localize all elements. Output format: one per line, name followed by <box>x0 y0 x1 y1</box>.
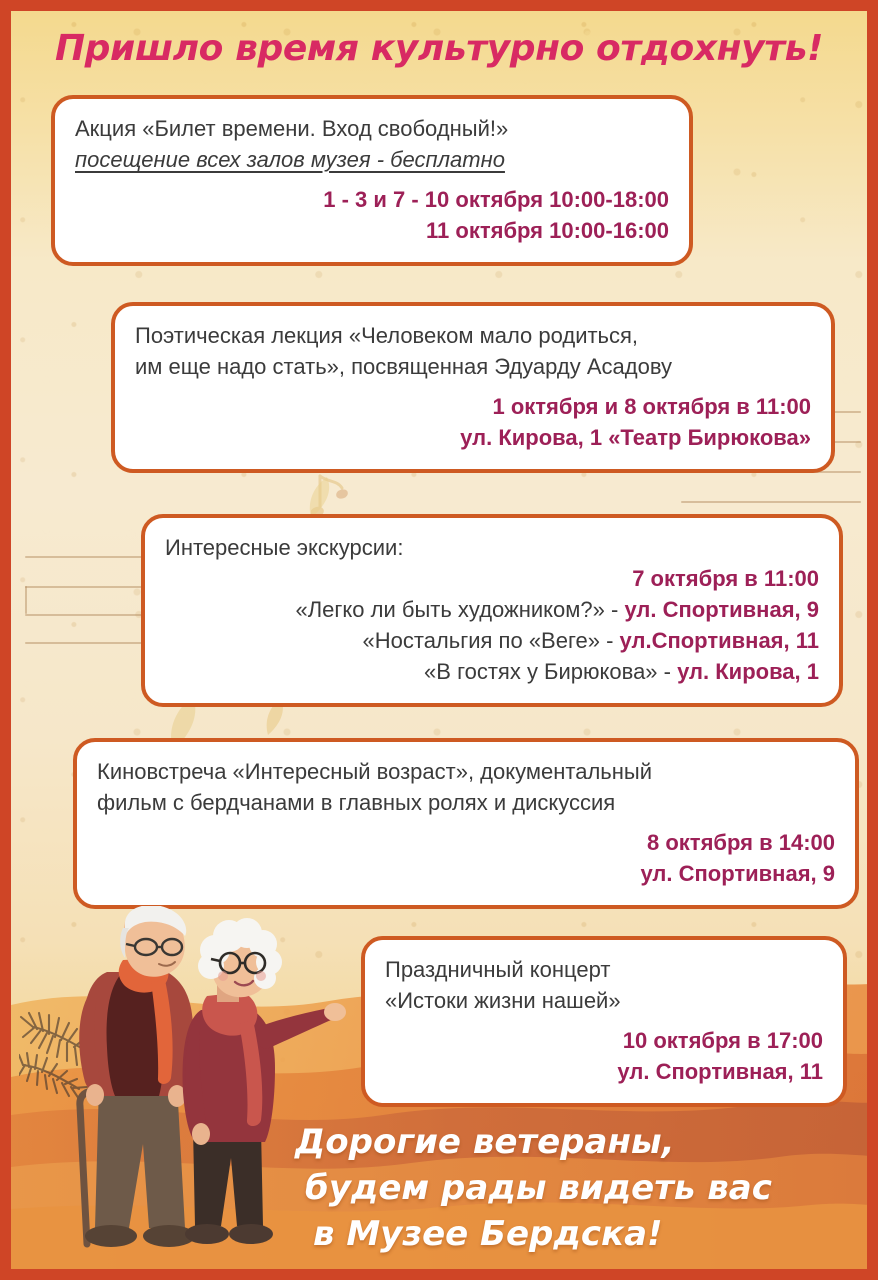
woman-hand <box>192 1123 210 1145</box>
footer-line-3: в Музее Бердска! <box>295 1211 855 1257</box>
spacer <box>97 818 835 827</box>
card-text-line: Акция «Билет времени. Вход свободный!» <box>75 113 669 144</box>
excursion-title: «Легко ли быть художником?» - <box>295 597 624 622</box>
footer-line-1: Дорогие ветераны, <box>295 1119 855 1165</box>
excursion-item: «Легко ли быть художником?» - ул. Спорти… <box>165 594 819 625</box>
card-text-line: «Истоки жизни нашей» <box>385 985 823 1016</box>
card-accent-line: 11 октября 10:00-16:00 <box>75 215 669 246</box>
woman-blush <box>256 971 266 981</box>
card-text-line: Поэтическая лекция «Человеком мало родит… <box>135 320 811 351</box>
woman-blush <box>218 971 228 981</box>
man-hand <box>86 1084 104 1106</box>
card-accent-line: ул. Спортивная, 9 <box>97 858 835 889</box>
woman-hand-pointing <box>324 1003 346 1021</box>
excursion-title: «Ностальгия по «Веге» - <box>363 628 620 653</box>
excursion-place: ул. Спортивная, 9 <box>624 597 819 622</box>
card-accent-line: ул. Кирова, 1 «Театр Бирюкова» <box>135 422 811 453</box>
excursions-date: 7 октября в 11:00 <box>165 563 819 594</box>
excursion-item: «Ностальгия по «Веге» - ул.Спортивная, 1… <box>165 625 819 656</box>
excursion-title: «В гостях у Бирюкова» - <box>424 659 677 684</box>
woman-shoe <box>185 1224 229 1244</box>
man-shoe <box>85 1225 137 1247</box>
poetry-lecture-card: Поэтическая лекция «Человеком мало родит… <box>111 302 835 473</box>
card-accent-line: 8 октября в 14:00 <box>97 827 835 858</box>
poster-title: Пришло время культурно отдохнуть! <box>11 27 867 71</box>
card-accent-line: 10 октября в 17:00 <box>385 1025 823 1056</box>
free-entry-card: Акция «Билет времени. Вход свободный!» п… <box>51 95 693 266</box>
card-text-line: им еще надо стать», посвященная Эдуарду … <box>135 351 811 382</box>
card-accent-line: 1 - 3 и 7 - 10 октября 10:00-18:00 <box>75 184 669 215</box>
excursions-card: Интересные экскурсии: 7 октября в 11:00 … <box>141 514 843 707</box>
man-trousers <box>95 1084 185 1228</box>
card-text-line: фильм с бердчанами в главных ролях и дис… <box>97 787 835 818</box>
excursion-item: «В гостях у Бирюкова» - ул. Кирова, 1 <box>165 656 819 687</box>
card-text-line: Киновстреча «Интересный возраст», докуме… <box>97 756 835 787</box>
concert-card: Праздничный концерт «Истоки жизни нашей»… <box>361 936 847 1107</box>
spacer <box>75 175 669 184</box>
card-text-line: посещение всех залов музея - бесплатно <box>75 144 669 175</box>
film-meeting-card: Киновстреча «Интересный возраст», докуме… <box>73 738 859 909</box>
footer-line-2: будем рады видеть вас <box>295 1165 855 1211</box>
spacer <box>385 1016 823 1025</box>
card-accent-line: ул. Спортивная, 11 <box>385 1056 823 1087</box>
excursion-place: ул.Спортивная, 11 <box>620 628 819 653</box>
excursions-heading: Интересные экскурсии: <box>165 532 819 563</box>
poster: Пришло время культурно отдохнуть! Акция … <box>0 0 878 1280</box>
card-text-line: Праздничный концерт <box>385 954 823 985</box>
walking-cane <box>80 1091 92 1244</box>
excursion-place: ул. Кирова, 1 <box>677 659 819 684</box>
footer-message: Дорогие ветераны, будем рады видеть вас … <box>295 1119 855 1257</box>
spacer <box>135 382 811 391</box>
card-accent-line: 1 октября и 8 октября в 11:00 <box>135 391 811 422</box>
woman-shoe <box>229 1224 273 1244</box>
